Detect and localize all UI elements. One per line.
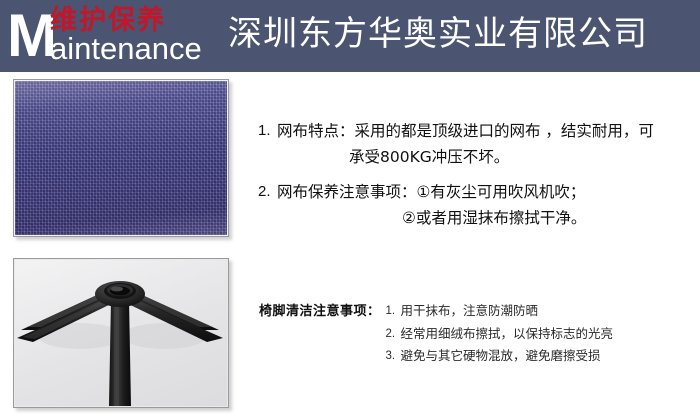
mesh-note-line: 承受800KG冲压不坏。	[277, 144, 654, 170]
base-care-note-number: 1.	[386, 300, 401, 323]
base-care-note-item: 1. 用干抹布，注意防潮防晒	[386, 300, 614, 323]
header-banner: M 维护保养 aintenance 深圳东方华奥实业有限公司	[0, 0, 700, 72]
chair-base-photo	[13, 258, 229, 408]
base-care-notes-list: 1. 用干抹布，注意防潮防晒 2. 经常用细绒布擦拭，以保持标志的光亮 3. 避…	[386, 300, 614, 368]
mesh-note-item: 2. 网布保养注意事项：①有灰尘可用吹风机吹； ②或者用湿抹布擦拭干净。	[258, 179, 694, 231]
mesh-note-body: 网布特点：采用的都是顶级进口的网布 ，结实耐用，可 承受800KG冲压不坏。	[277, 118, 654, 170]
logo-initial-letter: M	[7, 6, 55, 66]
base-care-notes-label: 椅脚清洁注意事项：	[259, 300, 381, 324]
mesh-note-line: ②或者用湿抹布擦拭干净。	[277, 205, 586, 231]
page-root: M 维护保养 aintenance 深圳东方华奥实业有限公司 1. 网布特点：采…	[0, 0, 700, 416]
brand-logo: M 维护保养 aintenance	[4, 0, 244, 72]
mesh-note-item: 1. 网布特点：采用的都是顶级进口的网布 ，结实耐用，可 承受800KG冲压不坏…	[258, 118, 694, 170]
logo-english-title: aintenance	[50, 33, 202, 65]
base-care-note-text: 避免与其它硬物混放，避免磨擦受损	[401, 345, 601, 368]
mesh-notes-block: 1. 网布特点：采用的都是顶级进口的网布 ，结实耐用，可 承受800KG冲压不坏…	[258, 118, 694, 231]
mesh-fabric-sheen	[15, 81, 227, 235]
base-care-note-number: 2.	[386, 323, 401, 346]
company-name: 深圳东方华奥实业有限公司	[228, 12, 648, 56]
mesh-fabric-texture	[15, 81, 227, 235]
base-care-note-item: 2. 经常用细绒布擦拭，以保持标志的光亮	[386, 323, 614, 346]
chair-base-illustration	[15, 260, 227, 406]
base-care-note-text: 经常用细绒布擦拭，以保持标志的光亮	[401, 323, 614, 346]
base-care-note-item: 3. 避免与其它硬物混放，避免磨擦受损	[386, 345, 614, 368]
mesh-note-body: 网布保养注意事项：①有灰尘可用吹风机吹； ②或者用湿抹布擦拭干净。	[277, 179, 586, 231]
mesh-fabric-photo	[13, 79, 229, 237]
base-care-notes-block: 椅脚清洁注意事项： 1. 用干抹布，注意防潮防晒 2. 经常用细绒布擦拭，以保持…	[259, 300, 695, 368]
mesh-note-line: 网布保养注意事项：①有灰尘可用吹风机吹；	[277, 179, 586, 205]
mesh-note-number: 2.	[258, 179, 277, 205]
mesh-note-number: 1.	[258, 118, 277, 144]
mesh-note-line: 网布特点：采用的都是顶级进口的网布 ，结实耐用，可	[277, 118, 654, 144]
base-care-note-number: 3.	[386, 345, 401, 368]
chair-base-photo-background	[15, 260, 227, 406]
base-care-note-text: 用干抹布，注意防潮防晒	[401, 300, 539, 323]
